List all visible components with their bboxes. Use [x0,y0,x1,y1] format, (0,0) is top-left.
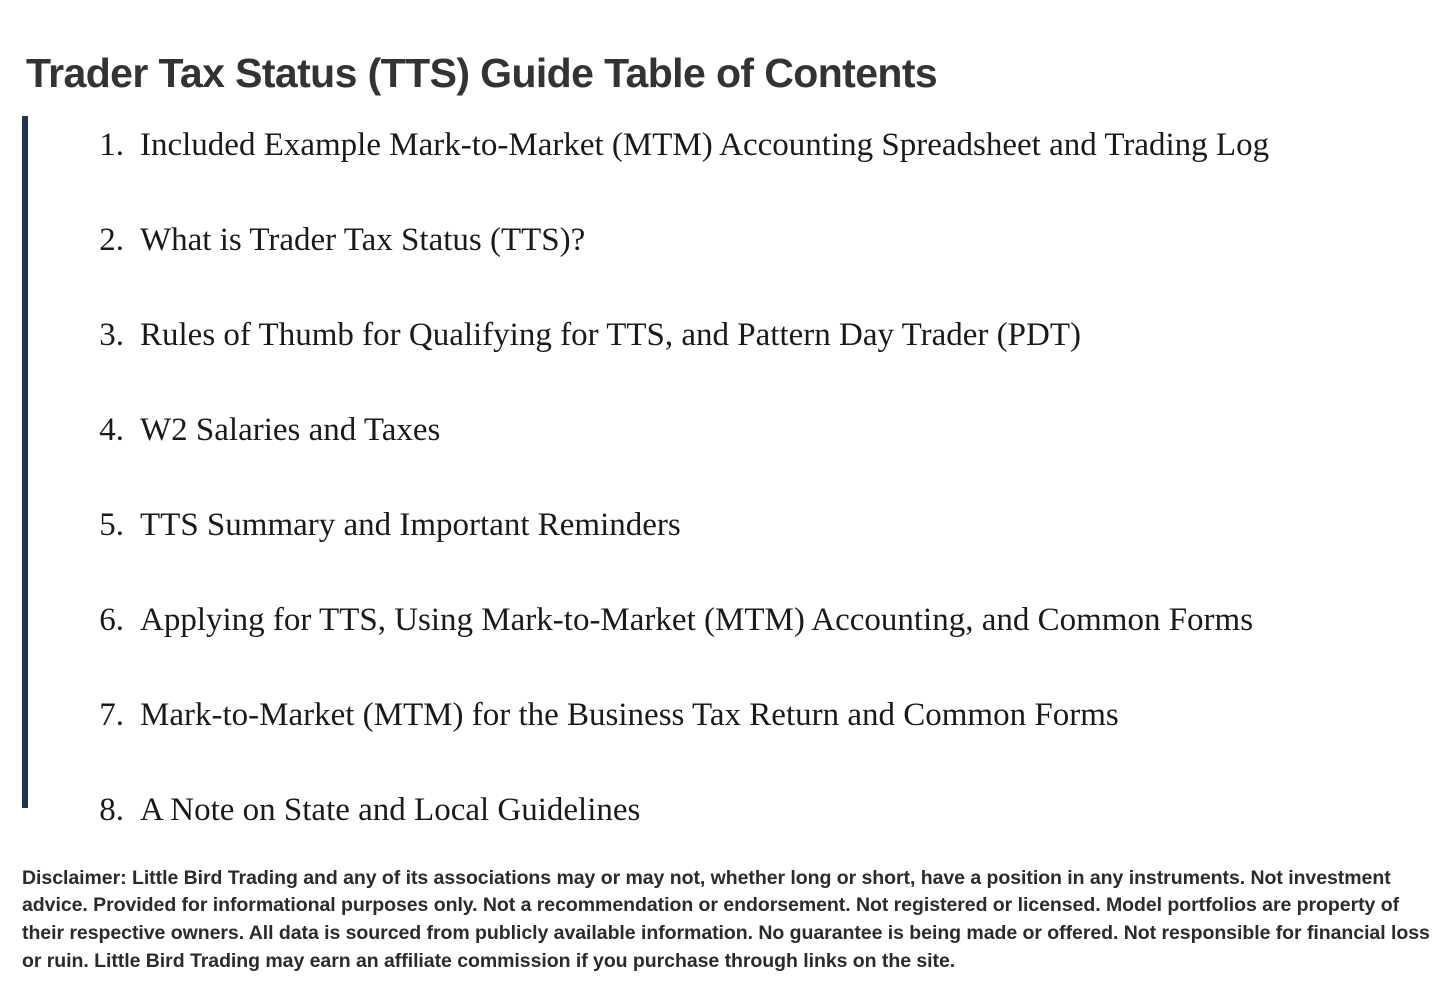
list-item-label: Mark-to-Market (MTM) for the Business Ta… [140,686,1432,745]
table-of-contents-list: 1. Included Example Mark-to-Market (MTM)… [22,116,1432,840]
list-item-number: 3. [78,306,124,365]
list-item[interactable]: 6. Applying for TTS, Using Mark-to-Marke… [22,591,1432,650]
list-item-number: 6. [78,591,124,650]
disclaimer-text: Disclaimer: Little Bird Trading and any … [22,865,1434,976]
list-item-label: W2 Salaries and Taxes [140,401,1432,460]
list-item[interactable]: 3. Rules of Thumb for Qualifying for TTS… [22,306,1432,365]
list-item-number: 1. [78,116,124,175]
list-item-label: Applying for TTS, Using Mark-to-Market (… [140,591,1406,650]
page-title: Trader Tax Status (TTS) Guide Table of C… [26,48,1406,98]
document-page: Trader Tax Status (TTS) Guide Table of C… [0,0,1456,1002]
list-item-label: A Note on State and Local Guidelines [140,781,1432,840]
list-item-number: 5. [78,496,124,555]
list-item-number: 4. [78,401,124,460]
list-item-number: 7. [78,686,124,745]
table-of-contents-block: 1. Included Example Mark-to-Market (MTM)… [22,116,1432,808]
list-item[interactable]: 8. A Note on State and Local Guidelines [22,781,1432,840]
list-item-label: TTS Summary and Important Reminders [140,496,1432,555]
list-item-label: Included Example Mark-to-Market (MTM) Ac… [140,116,1336,175]
list-item[interactable]: 1. Included Example Mark-to-Market (MTM)… [22,116,1432,175]
list-item-number: 8. [78,781,124,840]
list-item[interactable]: 4. W2 Salaries and Taxes [22,401,1432,460]
list-item-label: Rules of Thumb for Qualifying for TTS, a… [140,306,1432,365]
list-item-label: What is Trader Tax Status (TTS)? [140,211,1432,270]
list-item-number: 2. [78,211,124,270]
list-item[interactable]: 7. Mark-to-Market (MTM) for the Business… [22,686,1432,745]
list-item[interactable]: 2. What is Trader Tax Status (TTS)? [22,211,1432,270]
list-item[interactable]: 5. TTS Summary and Important Reminders [22,496,1432,555]
